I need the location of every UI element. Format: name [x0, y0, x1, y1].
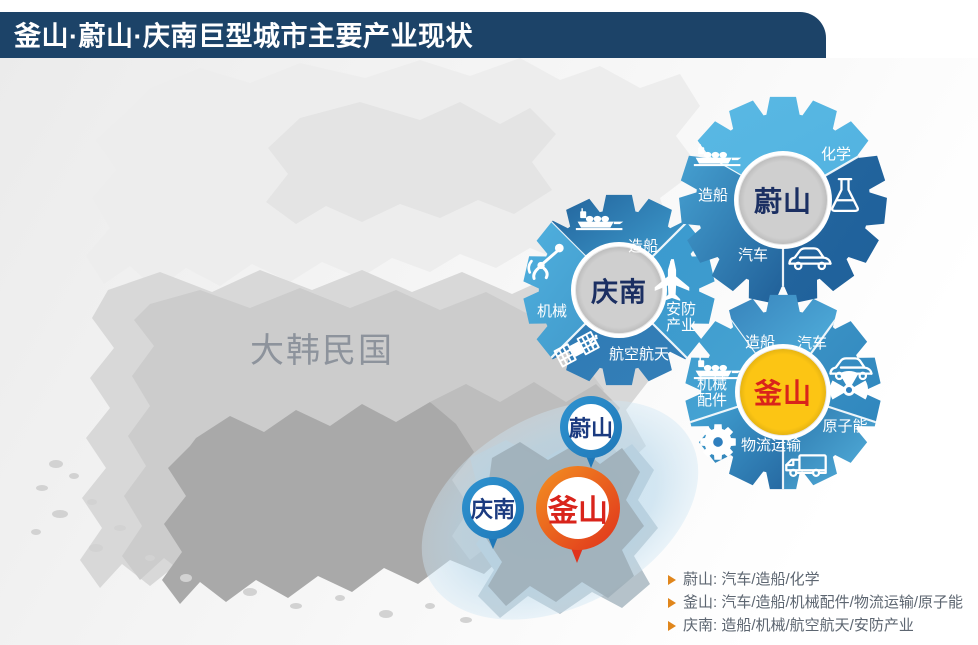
infographic-canvas: 大韩民国 蔚山庆南釜山 庆南造船	[0, 0, 978, 645]
page-title: 釜山·蔚山·庆南巨型城市主要产业现状	[14, 15, 473, 54]
pin-circle: 釜山	[536, 466, 620, 550]
gear-hub-label-busan: 釜山	[754, 372, 812, 412]
legend-item: 蔚山: 汽车/造船/化学	[668, 570, 963, 591]
gear-busan[interactable]: 釜山汽车 原子能 物流运输	[659, 268, 907, 516]
triangle-bullet-icon	[668, 621, 676, 631]
gear-hub-label-gyeongnam: 庆南	[591, 271, 647, 310]
triangle-bullet-icon	[668, 575, 676, 585]
legend-item-label: 釜山: 汽车/造船/机械配件/物流运输/原子能	[683, 593, 963, 612]
map-pin-gyeongnam[interactable]: 庆南	[462, 477, 524, 558]
pin-label: 釜山	[547, 477, 609, 539]
map-pin-busan[interactable]: 釜山	[536, 466, 620, 576]
legend-item-label: 蔚山: 汽车/造船/化学	[683, 570, 820, 589]
legend-item-label: 庆南: 造船/机械/航空航天/安防产业	[683, 616, 914, 635]
legend: 蔚山: 汽车/造船/化学 釜山: 汽车/造船/机械配件/物流运输/原子能 庆南:…	[668, 570, 963, 639]
title-bar: 釜山·蔚山·庆南巨型城市主要产业现状	[0, 12, 826, 58]
triangle-bullet-icon	[668, 598, 676, 608]
legend-item: 庆南: 造船/机械/航空航天/安防产业	[668, 616, 963, 637]
legend-item: 釜山: 汽车/造船/机械配件/物流运输/原子能	[668, 593, 963, 614]
pin-label: 庆南	[470, 485, 516, 531]
gear-hub-label-ulsan: 蔚山	[754, 180, 812, 220]
country-label: 大韩民国	[250, 323, 394, 372]
pin-circle: 庆南	[462, 477, 524, 539]
